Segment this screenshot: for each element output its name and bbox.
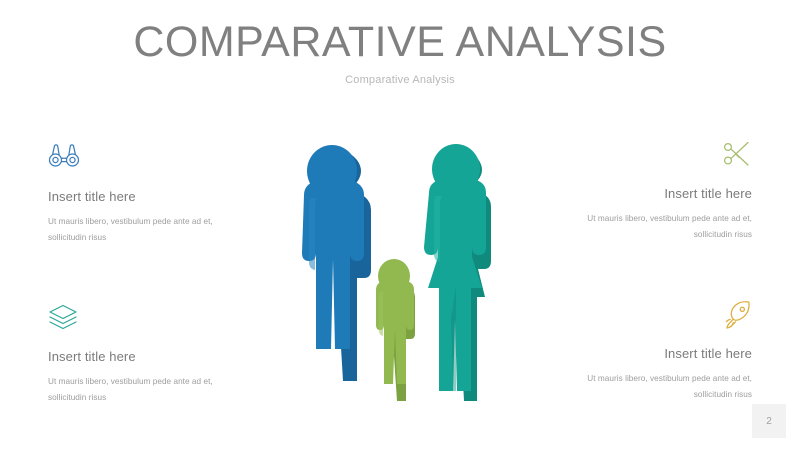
- feature-block-bottom-left[interactable]: Insert title here Ut mauris libero, vest…: [48, 303, 226, 406]
- binoculars-icon: [48, 143, 226, 177]
- feature-body: Ut mauris libero, vestibulum pede ante a…: [48, 214, 226, 246]
- slide-canvas: COMPARATIVE ANALYSIS Comparative Analysi…: [0, 0, 800, 450]
- feature-block-top-right[interactable]: Insert title here Ut mauris libero, vest…: [574, 140, 752, 243]
- page-title: COMPARATIVE ANALYSIS: [0, 18, 800, 66]
- feature-title: Insert title here: [574, 186, 752, 202]
- feature-block-bottom-right[interactable]: Insert title here Ut mauris libero, vest…: [574, 300, 752, 403]
- feature-body: Ut mauris libero, vestibulum pede ante a…: [48, 374, 226, 406]
- child-figure: [376, 259, 415, 401]
- rocket-icon: [574, 300, 752, 334]
- feature-body: Ut mauris libero, vestibulum pede ante a…: [574, 371, 752, 403]
- three-people-comparison-illustration: [270, 140, 540, 415]
- scissors-icon: [574, 140, 752, 174]
- feature-title: Insert title here: [48, 189, 226, 205]
- feature-title: Insert title here: [48, 349, 226, 365]
- page-number-value: 2: [766, 416, 772, 427]
- feature-title: Insert title here: [574, 346, 752, 362]
- feature-body: Ut mauris libero, vestibulum pede ante a…: [574, 211, 752, 243]
- page-number-badge: 2: [752, 404, 786, 438]
- page-subtitle: Comparative Analysis: [0, 74, 800, 86]
- adult-male-figure: [302, 145, 371, 381]
- adult-female-figure: [424, 144, 491, 401]
- feature-block-top-left[interactable]: Insert title here Ut mauris libero, vest…: [48, 143, 226, 246]
- header: COMPARATIVE ANALYSIS Comparative Analysi…: [0, 18, 800, 86]
- layers-icon: [48, 303, 226, 337]
